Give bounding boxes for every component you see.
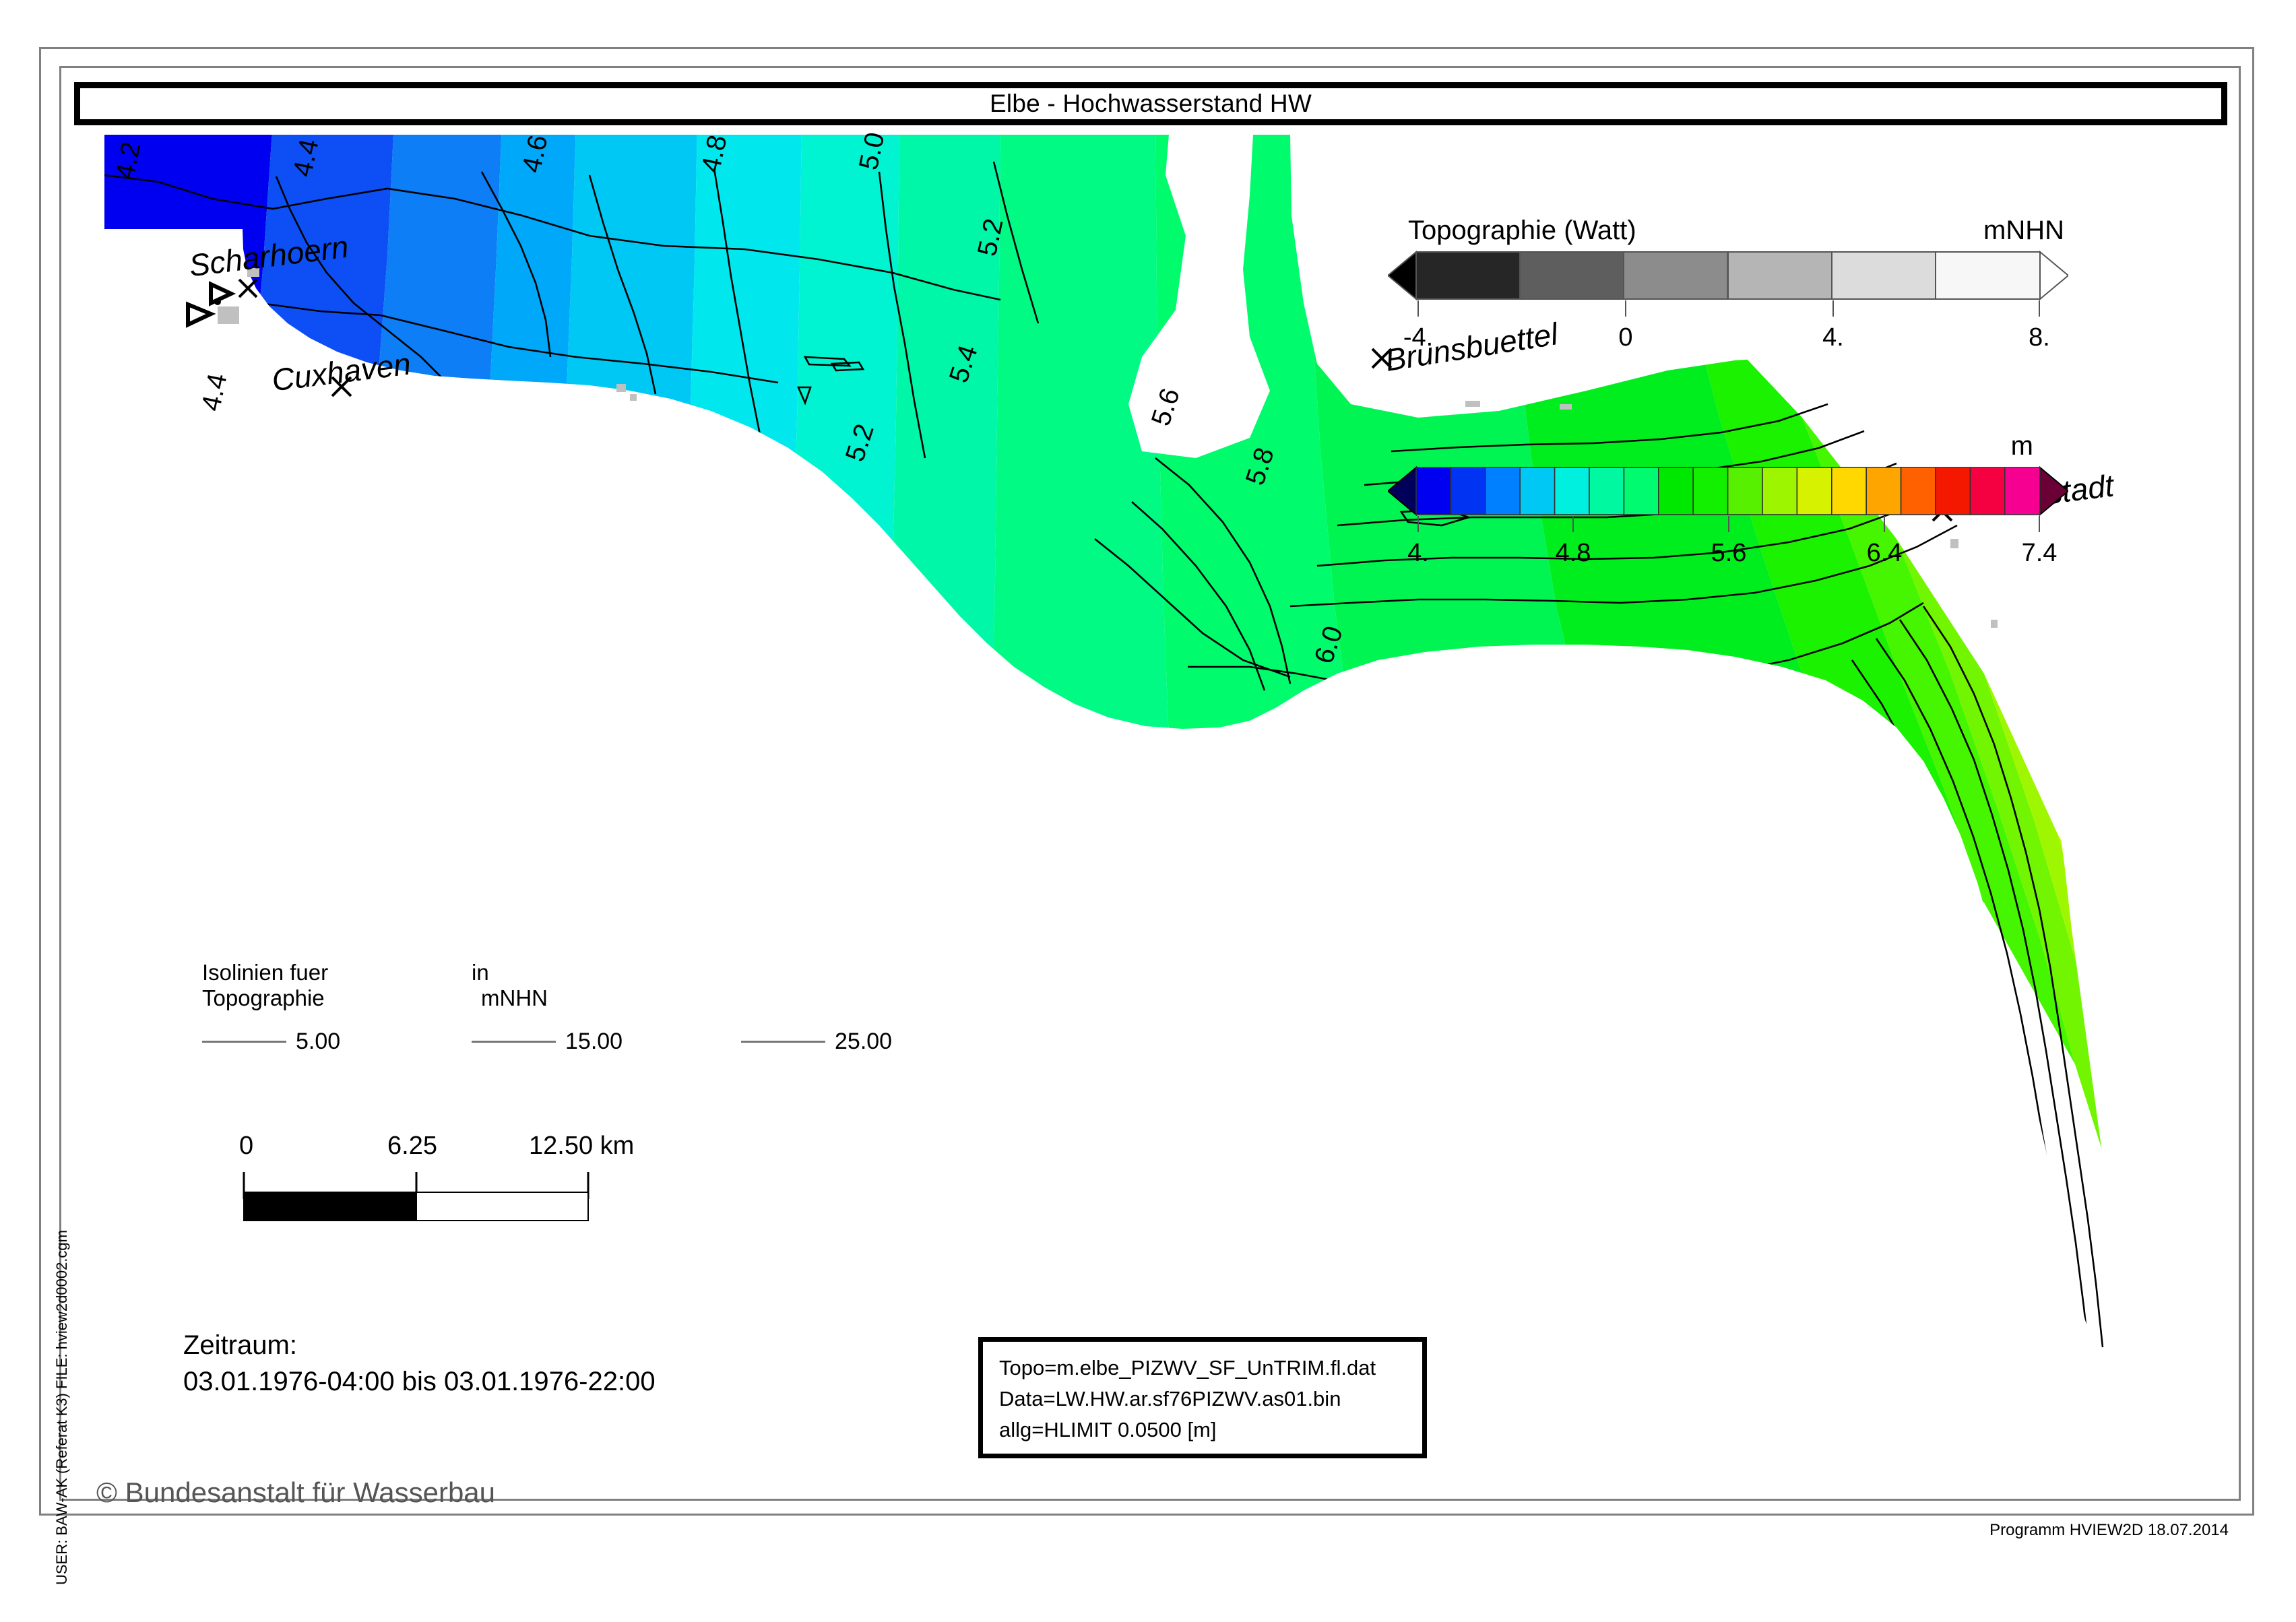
topography-legend-unit: mNHN xyxy=(1983,216,2064,246)
waterlevel-legend-unit: m xyxy=(2011,431,2033,461)
isoline-value: 5.00 xyxy=(296,1029,340,1055)
waterlevel-tick-label: 4.8 xyxy=(1556,539,1591,568)
zeitraum-value: 03.01.1976-04:00 bis 03.01.1976-22:00 xyxy=(183,1363,656,1400)
info-line-topo: Topo=m.elbe_PIZWV_SF_UnTRIM.fl.dat xyxy=(999,1353,1406,1384)
isoline-value: 15.00 xyxy=(565,1029,623,1055)
isoline-unit-line1: in xyxy=(472,960,489,985)
topo-arrow-left xyxy=(1388,252,1416,299)
topography-legend-title: Topographie (Watt) xyxy=(1408,216,1636,246)
waterlevel-tick-label: 5.6 xyxy=(1711,539,1747,568)
isoline-stroke-icon xyxy=(472,1041,556,1043)
waterlevel-legend: m xyxy=(1388,431,2068,599)
topography-ticks xyxy=(1388,300,2068,321)
isoline-stroke-icon xyxy=(741,1041,825,1043)
info-line-data: Data=LW.HW.ar.sf76PIZWV.as01.bin xyxy=(999,1384,1406,1415)
waterlevel-tick-label: 7.4 xyxy=(2022,539,2058,568)
program-footer: Programm HVIEW2D 18.07.2014 xyxy=(1989,1521,2229,1540)
scale-label-max: 12.50 km xyxy=(529,1132,634,1161)
title-box: Elbe - Hochwasserstand HW xyxy=(74,82,2227,125)
topography-legend: Topographie (Watt) mNHN xyxy=(1388,216,2068,391)
waterlevel-tick-label: 6.4 xyxy=(1867,539,1903,568)
isoline-stroke-icon xyxy=(202,1041,286,1043)
waterlevel-ticks xyxy=(1388,516,2068,536)
page-root: Elbe - Hochwasserstand HW USER: BAW-AK (… xyxy=(0,0,2296,1622)
copyright-text: © Bundesanstalt für Wasserbau xyxy=(96,1477,495,1509)
scale-bar-graphic xyxy=(239,1172,657,1233)
zeitraum-block: Zeitraum: 03.01.1976-04:00 bis 03.01.197… xyxy=(183,1327,656,1400)
topo-tick-label: 8. xyxy=(2029,323,2050,352)
waterlevel-tick-labels: 4. 4.8 5.6 6.4 7.4 xyxy=(1388,536,2068,570)
waterlevel-tick-label: 4. xyxy=(1407,539,1429,568)
info-line-allg: allg=HLIMIT 0.0500 [m] xyxy=(999,1415,1406,1446)
topo-tick-label: 0 xyxy=(1618,323,1632,352)
isoline-value: 25.00 xyxy=(835,1029,892,1055)
topo-tick-label: 4. xyxy=(1822,323,1844,352)
info-box: Topo=m.elbe_PIZWV_SF_UnTRIM.fl.dat Data=… xyxy=(978,1337,1427,1458)
color-arrow-right xyxy=(2040,467,2068,515)
topo-tick-label: -4. xyxy=(1403,323,1433,352)
topo-arrow-right xyxy=(2040,252,2068,299)
waterlevel-colorbar[interactable] xyxy=(1388,466,2068,516)
topography-tick-labels: -4. 0 4. 8. xyxy=(1388,321,2068,354)
scale-label-0: 0 xyxy=(239,1132,253,1161)
scale-bar: 0 6.25 12.50 km xyxy=(239,1132,657,1226)
topography-colorbar[interactable] xyxy=(1388,251,2068,300)
user-file-text: USER: BAW-AK (Referat K3) FILE: hview2d0… xyxy=(53,1194,71,1585)
isoline-legend-caption-left: Isolinien fuer Topographie xyxy=(202,960,328,1011)
isoline-sample: 25.00 xyxy=(741,1029,892,1055)
scale-bar-labels: 0 6.25 12.50 km xyxy=(239,1132,657,1169)
isoline-caption-line1: Isolinien fuer xyxy=(202,960,328,985)
isoline-unit-line2: mNHN xyxy=(472,985,548,1011)
isoline-caption-line2: Topographie xyxy=(202,985,325,1010)
zeitraum-label: Zeitraum: xyxy=(183,1327,656,1363)
color-arrow-left xyxy=(1388,467,1416,515)
isoline-legend-caption-right: in mNHN xyxy=(472,960,548,1011)
user-file-sidebar: USER: BAW-AK (Referat K3) FILE: hview2d0… xyxy=(42,1206,69,1583)
isoline-sample: 5.00 xyxy=(202,1029,340,1055)
topography-legend-header: Topographie (Watt) mNHN xyxy=(1388,216,2068,251)
page-title: Elbe - Hochwasserstand HW xyxy=(990,90,1312,118)
isoline-sample: 15.00 xyxy=(472,1029,623,1055)
waterlevel-legend-header: m xyxy=(1388,431,2068,466)
isoline-samples: 5.00 15.00 25.00 xyxy=(202,1029,997,1062)
scale-label-mid: 6.25 xyxy=(387,1132,437,1161)
isoline-legend: Isolinien fuer Topographie in mNHN 5.00 … xyxy=(202,960,997,1095)
